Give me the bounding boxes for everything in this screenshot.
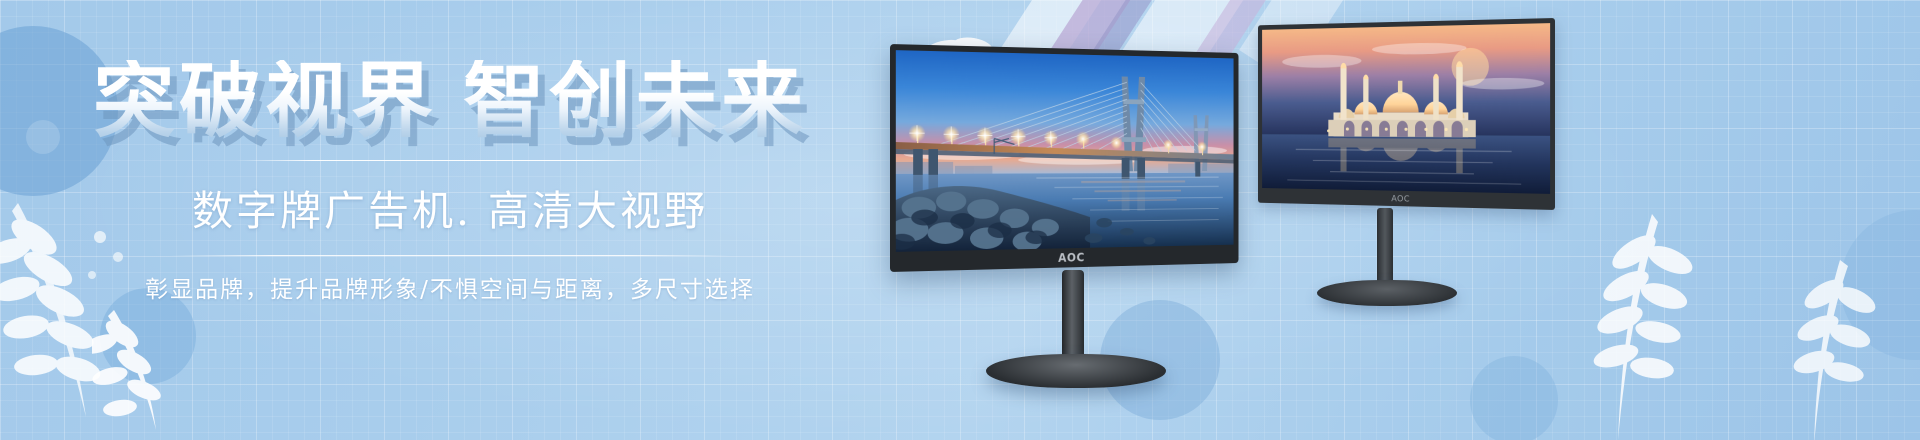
headline-part-2: 智创未来 [463, 54, 807, 149]
banner-copy: 突破视界智创未来 数字牌广告机. 高清大视野 彰显品牌，提升品牌形象/不惧空间与… [0, 60, 900, 304]
monitor-back-neck [1377, 208, 1393, 286]
monitor-back-bezel: AOC [1258, 18, 1555, 210]
mosque-sunset-photo [1262, 23, 1550, 194]
divider-top [235, 160, 665, 161]
monitor-back-base [1317, 280, 1457, 306]
monitor-front-neck [1062, 270, 1084, 362]
monitor-front-base [986, 354, 1166, 388]
brand-logo-back: AOC [1391, 194, 1410, 204]
page-title: 突破视界智创未来 [0, 60, 900, 144]
promo-banner: 突破视界智创未来 数字牌广告机. 高清大视野 彰显品牌，提升品牌形象/不惧空间与… [0, 0, 1920, 440]
monitor-front: AOC [890, 44, 1280, 394]
monitor-front-screen [896, 50, 1234, 252]
monitor-back-screen [1262, 23, 1550, 194]
banner-tagline: 彰显品牌，提升品牌形象/不惧空间与距离，多尺寸选择 [0, 270, 900, 304]
monitor-front-bezel: AOC [890, 44, 1239, 272]
banner-subtitle: 数字牌广告机. 高清大视野 [0, 177, 900, 237]
divider-bottom [170, 255, 730, 256]
headline-part-1: 突破视界 [93, 54, 437, 149]
brand-logo-front: AOC [1058, 251, 1085, 265]
monitor-group: AOC [880, 0, 1920, 440]
bridge-sunset-photo [896, 50, 1234, 252]
